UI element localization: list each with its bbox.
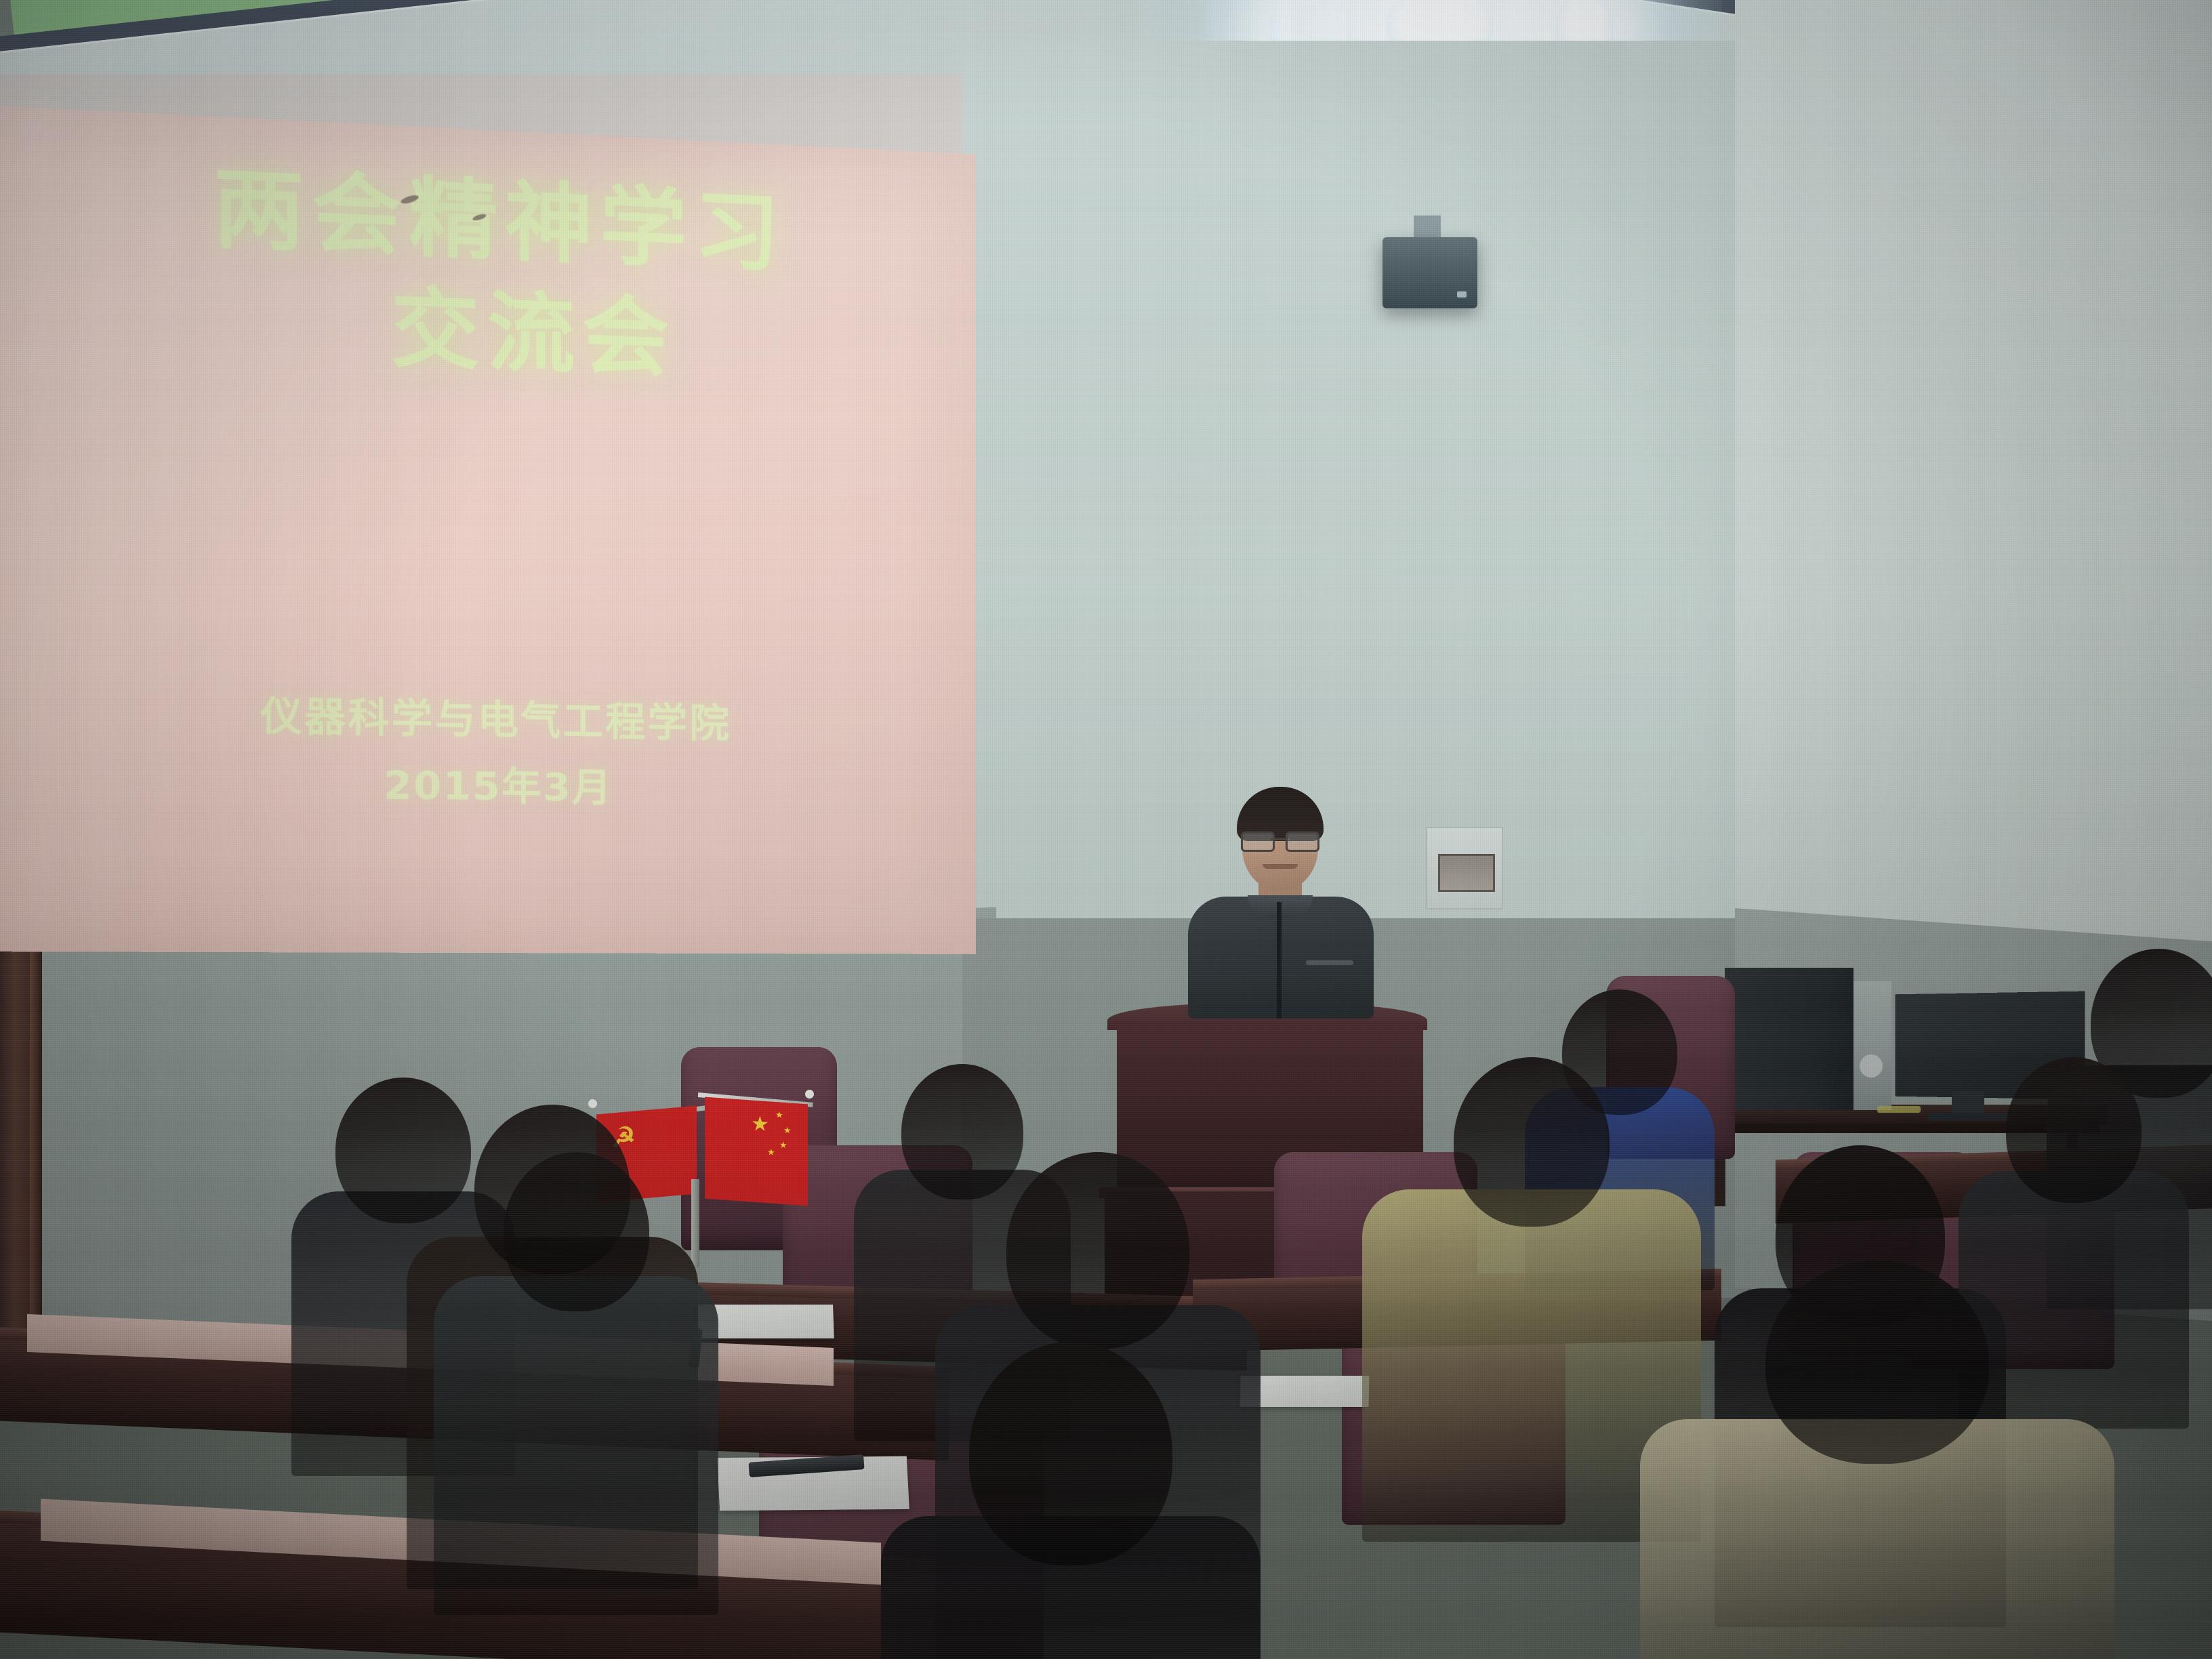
prc-national-flag: ★ ★ ★ ★ ★	[705, 1097, 808, 1206]
attendee-head	[504, 1152, 649, 1311]
presenter-zipper	[1277, 902, 1282, 1019]
attendee-head	[1765, 1261, 1989, 1464]
glasses-icon	[1241, 832, 1319, 848]
prc-star-small-1-icon: ★	[775, 1110, 783, 1120]
wall-electrical-panel[interactable]	[1426, 827, 1503, 909]
attendee-center-dark	[881, 1342, 1261, 1659]
panel-window	[1438, 854, 1495, 892]
prc-flag-finial	[805, 1090, 814, 1099]
prc-star-small-3-icon: ★	[779, 1140, 787, 1149]
attendee-head	[969, 1342, 1172, 1565]
slide-title: 两会精神学习 交流会	[0, 142, 976, 405]
presenter-mouth	[1263, 864, 1298, 869]
attendee-head	[2006, 1057, 2142, 1203]
power-button-icon[interactable]	[1860, 1054, 1883, 1078]
glasses-lens-left	[1241, 832, 1275, 852]
presenter-pocket	[1306, 960, 1353, 965]
ceiling-projector-icon	[1382, 237, 1477, 308]
desk-accessory	[1877, 1106, 1921, 1113]
slide-organization: 仪器科学与电气工程学院	[0, 679, 976, 752]
prc-star-large-icon: ★	[751, 1113, 769, 1135]
attendee-fur-hood	[1640, 1261, 2114, 1659]
wall-right-upper	[1735, 0, 2212, 1030]
pc-tower-front-panel	[1853, 981, 1891, 1110]
attendee-head	[1454, 1057, 1610, 1227]
attendee-glasses-left	[434, 1152, 718, 1650]
presenter-speaker	[1183, 783, 1379, 1013]
prc-star-small-2-icon: ★	[783, 1126, 792, 1135]
projector-led-icon	[1457, 291, 1467, 298]
slide-date: 2015年3月	[0, 748, 976, 817]
slide-subtitle: 仪器科学与电气工程学院 2015年3月	[0, 679, 976, 817]
meeting-room-photo: 两会精神学习 交流会 仪器科学与电气工程学院 2015年3月	[0, 0, 2212, 1659]
prc-star-small-4-icon: ★	[767, 1147, 775, 1157]
glasses-lens-right	[1286, 832, 1319, 852]
projection-screen: 两会精神学习 交流会 仪器科学与电气工程学院 2015年3月	[0, 105, 976, 954]
attendee-torso	[434, 1276, 718, 1615]
attendee-head	[1006, 1152, 1189, 1349]
pc-tower	[1725, 968, 1853, 1110]
